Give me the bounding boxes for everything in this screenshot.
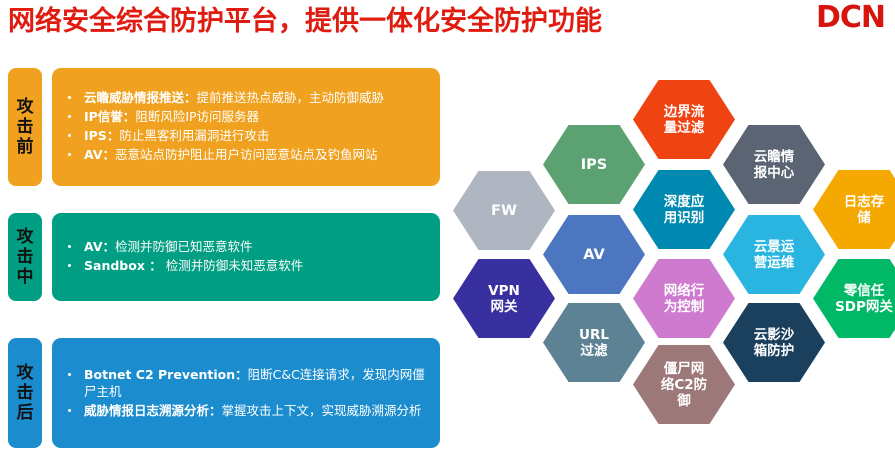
hex-label: IPS [581,157,607,173]
hex-label: 零信任 SDP网关 [835,283,893,315]
hex-cloud-shadow-sandbox[interactable]: 云影沙 箱防护 [723,303,825,382]
capability-honeycomb: 边界流 量过滤IPS云瞻情 报中心FW深度应 用识别日志存 储AV云景运 营运维… [0,48,895,452]
hex-label: 云瞻情 报中心 [754,149,795,181]
hex-label: FW [491,203,517,219]
hex-label: 云影沙 箱防护 [754,327,795,359]
hex-vpn-gateway[interactable]: VPN 网关 [453,259,555,338]
slide-root: 网络安全综合防护平台，提供一体化安全防护功能 DCN 攻 击 前 云瞻威胁情报推… [0,0,895,452]
header: 网络安全综合防护平台，提供一体化安全防护功能 DCN [0,0,895,48]
page-title: 网络安全综合防护平台，提供一体化安全防护功能 [8,2,602,42]
hex-log-storage[interactable]: 日志存 储 [813,170,895,249]
hex-label: 云景运 营运维 [754,239,795,271]
hex-label: 边界流 量过滤 [664,104,705,136]
hex-zero-trust-sdp-gateway[interactable]: 零信任 SDP网关 [813,259,895,338]
hex-cloud-ops-maintenance[interactable]: 云景运 营运维 [723,215,825,294]
hex-label: 日志存 储 [844,194,885,226]
hex-boundary-traffic-filter[interactable]: 边界流 量过滤 [633,80,735,159]
hex-network-behavior-control[interactable]: 网络行 为控制 [633,259,735,338]
hex-label: 僵尸网 络C2防 御 [661,361,707,409]
hex-label: URL 过滤 [579,327,609,359]
hex-label: 网络行 为控制 [664,283,705,315]
hex-botnet-c2-defense[interactable]: 僵尸网 络C2防 御 [633,345,735,424]
hex-cloud-intel-center[interactable]: 云瞻情 报中心 [723,125,825,204]
hex-firewall[interactable]: FW [453,171,555,250]
dcn-logo: DCN [816,1,885,35]
hex-label: VPN 网关 [488,283,520,315]
hex-url-filter[interactable]: URL 过滤 [543,303,645,382]
hex-ips[interactable]: IPS [543,125,645,204]
hex-label: 深度应 用识别 [664,194,705,226]
hex-deep-app-recognition[interactable]: 深度应 用识别 [633,170,735,249]
hex-label: AV [583,247,604,263]
hex-antivirus[interactable]: AV [543,215,645,294]
